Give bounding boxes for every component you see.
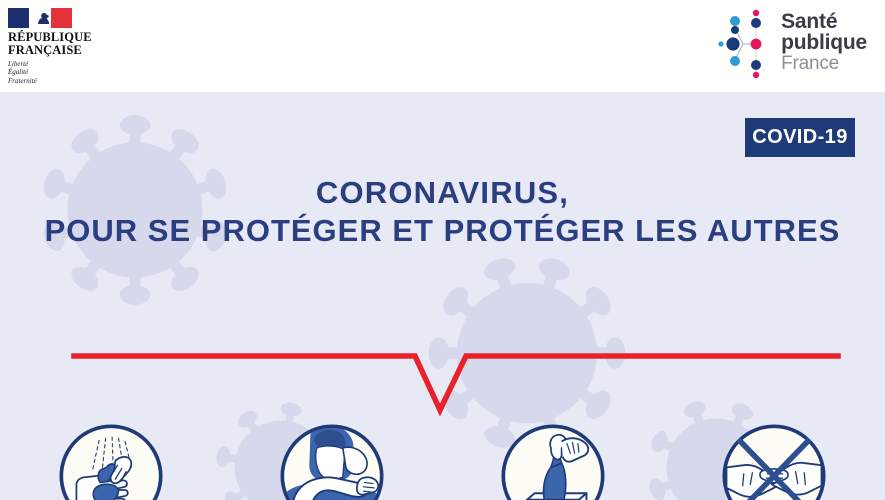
republic-name-line1: RÉPUBLIQUE [8, 31, 128, 44]
no-handshake-icon [720, 422, 828, 500]
divider [0, 348, 885, 418]
motto-egalite: Égalité [8, 68, 128, 76]
red-arrow-divider-icon [0, 348, 885, 418]
flag-band-white [29, 8, 50, 28]
agency-name-line2: publique [781, 32, 867, 53]
marianne-silhouette-icon [37, 11, 50, 25]
agency-logo-wordmark: Santé publique France [781, 11, 867, 75]
title-line-1: CORONAVIRUS, [0, 174, 885, 212]
tip-single-use-tissue: Utiliser un mouchoir à usage unique et l… [443, 422, 664, 500]
tip-no-handshake: Saluer sans se serrer la main, éviter le… [664, 422, 885, 500]
tip-cough-elbow: Tousser ou éternuer dans son coude ou da… [221, 422, 442, 500]
infographic-page: RÉPUBLIQUE FRANÇAISE Liberté Égalité Fra… [0, 0, 885, 500]
cough-into-elbow-icon [278, 422, 386, 500]
content-panel: COVID-19 CORONAVIRUS, POUR SE PROTÉGER E… [0, 92, 885, 500]
agency-name-line1: Santé [781, 11, 867, 32]
network-dots-icon [713, 8, 775, 78]
motto-fraternite: Fraternité [8, 77, 128, 85]
flag-band-red [51, 8, 72, 28]
single-use-tissue-icon [499, 422, 607, 500]
status-badge: COVID-19 [745, 118, 855, 157]
republic-name-line2: FRANÇAISE [8, 44, 128, 57]
tip-wash-hands: Se laver très régulièrement les mains [0, 422, 221, 500]
sante-publique-france-logo: Santé publique France [713, 8, 867, 78]
french-flag-icon [8, 8, 72, 28]
page-header: RÉPUBLIQUE FRANÇAISE Liberté Égalité Fra… [0, 0, 885, 92]
agency-name-line3: France [781, 53, 867, 75]
republique-francaise-logo: RÉPUBLIQUE FRANÇAISE Liberté Égalité Fra… [8, 8, 128, 85]
prevention-tips-row: Se laver très régulièrement les mains [0, 422, 885, 500]
handwashing-icon [57, 422, 165, 500]
motto-liberte: Liberté [8, 60, 128, 68]
title-line-2: POUR SE PROTÉGER ET PROTÉGER LES AUTRES [0, 212, 885, 250]
flag-band-blue [8, 8, 29, 28]
page-title: CORONAVIRUS, POUR SE PROTÉGER ET PROTÉGE… [0, 174, 885, 250]
